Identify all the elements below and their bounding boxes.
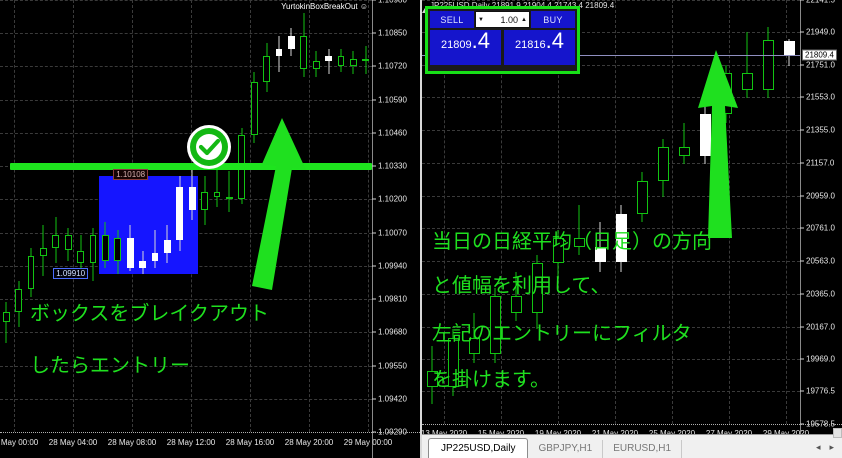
candle-body xyxy=(263,56,270,82)
screenshot-root: 1.099101.10108 YurtokinBoxBreakOut ☺ 1.1… xyxy=(0,0,842,458)
candlestick xyxy=(201,0,208,432)
candlestick xyxy=(595,0,607,424)
right-signal-up-arrow-icon xyxy=(690,50,746,240)
candlestick xyxy=(637,0,649,424)
left-time-axis[interactable]: 28 May 00:0028 May 04:0028 May 08:0028 M… xyxy=(0,436,372,456)
price-axis-tick: 19776.5 xyxy=(806,387,835,396)
candle-body xyxy=(77,251,84,264)
candle-body xyxy=(784,41,796,55)
vertical-scrollbar[interactable] xyxy=(833,428,842,438)
candle-body xyxy=(288,36,295,49)
volume-stepper[interactable]: ▼ 1.00 ▲ xyxy=(475,11,530,28)
price-axis-tick: 20365.0 xyxy=(806,289,835,298)
price-axis-tick: 19969.0 xyxy=(806,355,835,364)
price-axis-tick: 1.10980 xyxy=(378,0,407,5)
price-axis-tick: 1.09550 xyxy=(378,361,407,370)
candle-body xyxy=(637,181,649,214)
time-axis-tick: 28 May 08:00 xyxy=(108,438,156,447)
price-axis-tick: 1.09940 xyxy=(378,261,407,270)
axis-tickmark xyxy=(800,64,804,65)
candle-body xyxy=(658,147,670,180)
candle-body xyxy=(276,49,283,57)
axis-tickmark xyxy=(800,391,804,392)
candlestick xyxy=(362,0,369,432)
candle-body xyxy=(300,36,307,69)
candlestick xyxy=(338,0,345,432)
candle-wick xyxy=(229,171,230,212)
candlestick xyxy=(313,0,320,432)
candlestick xyxy=(214,0,221,432)
one-click-trade-panel[interactable]: SELL ▼ 1.00 ▲ BUY 21809 .4 21816 .4 xyxy=(425,6,580,74)
candle-body xyxy=(3,312,10,322)
tab-jp225usd-daily[interactable]: JP225USD,Daily xyxy=(428,438,528,458)
price-axis-tick: 20761.0 xyxy=(806,224,835,233)
candlestick xyxy=(350,0,357,432)
candle-body xyxy=(763,40,775,90)
right-annotation-line-2: と値幅を利用して、 xyxy=(432,272,610,298)
tab-gbpjpy-h1[interactable]: GBPJPY,H1 xyxy=(528,440,603,458)
left-breakout-up-arrow-icon xyxy=(236,118,306,293)
candle-body xyxy=(201,192,208,210)
candle-wick xyxy=(684,123,685,164)
candle-body xyxy=(176,187,183,241)
candlestick xyxy=(658,0,670,424)
candle-body xyxy=(114,238,121,261)
price-axis-tick: 20959.0 xyxy=(806,191,835,200)
candle-body xyxy=(40,248,47,256)
left-annotation-line-2: したらエントリー xyxy=(30,352,190,378)
candle-body xyxy=(214,192,221,197)
buy-button[interactable]: 21816 .4 xyxy=(504,30,575,65)
current-price-tag: 21809.4 xyxy=(802,49,837,60)
axis-tickmark xyxy=(800,359,804,360)
tab-scroll-next-icon[interactable]: ▸ xyxy=(829,442,834,453)
candlestick xyxy=(679,0,691,424)
sell-button[interactable]: 21809 .4 xyxy=(430,30,501,65)
price-axis-tick: 1.10070 xyxy=(378,228,407,237)
candle-body xyxy=(15,289,22,312)
price-axis-tick: 21355.0 xyxy=(806,126,835,135)
candle-body xyxy=(152,253,159,261)
candle-body xyxy=(164,240,171,253)
candle-body xyxy=(52,235,59,248)
price-axis-tick: 1.10200 xyxy=(378,195,407,204)
price-axis-tick: 20563.0 xyxy=(806,257,835,266)
axis-tickmark xyxy=(800,195,804,196)
price-axis-tick: 1.09680 xyxy=(378,328,407,337)
axis-tickmark xyxy=(372,0,376,1)
left-annotation-line-1: ボックスをブレイクアウト xyxy=(30,300,269,326)
candlestick xyxy=(616,0,628,424)
candlestick xyxy=(325,0,332,432)
axis-tickmark xyxy=(372,398,376,399)
axis-tickmark xyxy=(800,228,804,229)
sell-price-integer: 21809 xyxy=(441,39,472,51)
axis-tickmark xyxy=(372,332,376,333)
candle-body xyxy=(28,256,35,289)
buy-price-integer: 21816 xyxy=(515,39,546,51)
candle-body xyxy=(90,235,97,263)
time-axis-tick: 29 May 00:00 xyxy=(344,438,392,447)
candle-body xyxy=(679,147,691,155)
left-axis-baseline xyxy=(0,432,420,433)
candle-wick xyxy=(154,230,155,268)
candle-body xyxy=(102,235,109,261)
axis-tickmark xyxy=(372,265,376,266)
right-annotation-line-4: を掛けます。 xyxy=(432,366,550,392)
time-axis-tick: 28 May 12:00 xyxy=(167,438,215,447)
price-axis-tick: 20167.0 xyxy=(806,322,835,331)
axis-tickmark xyxy=(800,162,804,163)
candlestick xyxy=(784,0,796,424)
price-axis-tick: 1.10330 xyxy=(378,162,407,171)
axis-tickmark xyxy=(800,326,804,327)
price-axis-tick: 1.10850 xyxy=(378,29,407,38)
sell-label: SELL xyxy=(430,11,474,28)
axis-tickmark xyxy=(372,232,376,233)
axis-tickmark xyxy=(372,365,376,366)
candlestick xyxy=(763,0,775,424)
tab-eurusd-h1[interactable]: EURUSD,H1 xyxy=(603,440,682,458)
axis-tickmark xyxy=(372,132,376,133)
left-indicator-label: YurtokinBoxBreakOut ☺ xyxy=(281,2,368,11)
axis-tickmark xyxy=(372,166,376,167)
candlestick xyxy=(226,0,233,432)
price-axis-tick: 21553.0 xyxy=(806,93,835,102)
candle-body xyxy=(338,56,345,66)
price-axis-tick: 1.09420 xyxy=(378,394,407,403)
candle-body xyxy=(511,296,523,313)
candle-body xyxy=(325,56,332,61)
price-axis-tick: 21157.0 xyxy=(806,158,834,167)
axis-tickmark xyxy=(372,66,376,67)
price-axis-tick: 22141.5 xyxy=(806,0,835,5)
buy-label: BUY xyxy=(531,11,575,28)
candlestick xyxy=(3,0,10,432)
box-low-price-tag: 1.09910 xyxy=(53,268,88,279)
candle-body xyxy=(350,59,357,67)
price-axis-tick: 21751.0 xyxy=(806,60,835,69)
gridline-vertical xyxy=(309,0,310,432)
price-axis-tick: 1.10590 xyxy=(378,95,407,104)
axis-tickmark xyxy=(800,0,804,1)
axis-tickmark xyxy=(800,293,804,294)
right-annotation-line-3: 左記のエントリーにフィルタ xyxy=(432,320,692,346)
candle-body xyxy=(127,238,134,269)
gridline-vertical xyxy=(672,0,673,424)
time-axis-tick: 28 May 20:00 xyxy=(285,438,333,447)
chart-tabbar[interactable]: JP225USD,Daily GBPJPY,H1 EURUSD,H1 ◂ ▸ xyxy=(422,434,842,458)
volume-increase-icon[interactable]: ▲ xyxy=(521,17,527,23)
candle-wick xyxy=(216,166,217,207)
sell-price-decimal: .4 xyxy=(472,30,490,52)
time-axis-tick: 28 May 16:00 xyxy=(226,438,274,447)
left-price-axis[interactable]: 1.109801.108501.107201.105901.104601.103… xyxy=(372,0,420,458)
candle-body xyxy=(189,187,196,210)
axis-tickmark xyxy=(800,97,804,98)
axis-tickmark xyxy=(372,199,376,200)
time-axis-tick: 28 May 04:00 xyxy=(49,438,97,447)
candle-body xyxy=(226,197,233,200)
axis-tickmark xyxy=(800,130,804,131)
candle-body xyxy=(313,61,320,69)
axis-tickmark xyxy=(372,33,376,34)
axis-tickmark xyxy=(800,261,804,262)
axis-tickmark xyxy=(372,99,376,100)
right-axis-baseline xyxy=(422,424,842,425)
price-axis-tick: 1.09810 xyxy=(378,295,407,304)
check-circle-icon xyxy=(186,124,232,170)
candle-body xyxy=(65,235,72,250)
price-axis-tick: 21949.0 xyxy=(806,27,835,36)
axis-tickmark xyxy=(800,31,804,32)
right-price-axis[interactable]: 22141.521949.021751.021553.021355.021157… xyxy=(800,0,842,458)
price-axis-tick: 1.10720 xyxy=(378,62,407,71)
tab-scroll-prev-icon[interactable]: ◂ xyxy=(816,442,821,453)
right-annotation-line-1: 当日の日経平均（日足）の方向 xyxy=(432,228,712,254)
left-chart-pane[interactable]: 1.099101.10108 YurtokinBoxBreakOut ☺ 1.1… xyxy=(0,0,420,458)
volume-value[interactable]: 1.00 xyxy=(484,15,521,25)
buy-price-decimal: .4 xyxy=(546,30,564,52)
candle-body xyxy=(139,261,146,269)
price-axis-tick: 1.10460 xyxy=(378,128,407,137)
candlestick xyxy=(15,0,22,432)
axis-tickmark xyxy=(372,299,376,300)
candle-wick xyxy=(6,302,7,343)
box-high-price-tag: 1.10108 xyxy=(113,169,148,180)
candle-body xyxy=(362,59,369,62)
time-axis-tick: 28 May 00:00 xyxy=(0,438,38,447)
